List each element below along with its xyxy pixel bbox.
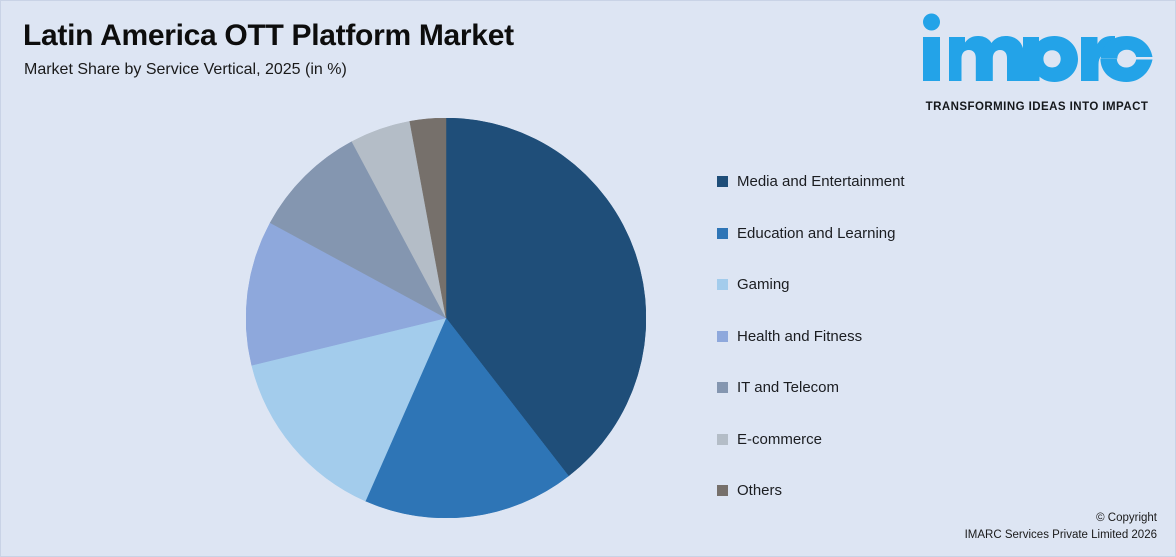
pie-chart — [246, 118, 646, 518]
copyright-footer: © Copyright IMARC Services Private Limit… — [965, 510, 1157, 544]
legend-item-label: E-commerce — [737, 431, 822, 448]
pie-chart-svg — [246, 118, 646, 518]
legend-swatch-icon — [717, 382, 728, 393]
legend-item[interactable]: Gaming — [717, 259, 1047, 311]
legend-item[interactable]: IT and Telecom — [717, 362, 1047, 414]
legend-item[interactable]: E-commerce — [717, 414, 1047, 466]
copyright-line-2: IMARC Services Private Limited 2026 — [965, 527, 1157, 544]
legend-item-label: Education and Learning — [737, 225, 895, 242]
logo-tagline: TRANSFORMING IDEAS INTO IMPACT — [913, 101, 1161, 113]
legend-item-label: Media and Entertainment — [737, 173, 905, 190]
legend-swatch-icon — [717, 434, 728, 445]
legend-item[interactable]: Education and Learning — [717, 208, 1047, 260]
legend-swatch-icon — [717, 228, 728, 239]
legend-item-label: Gaming — [737, 276, 790, 293]
legend-item-label: Health and Fitness — [737, 328, 862, 345]
legend-swatch-icon — [717, 485, 728, 496]
pie-slice-group — [246, 118, 646, 518]
imarc-logo: TRANSFORMING IDEAS INTO IMPACT — [913, 11, 1161, 107]
legend-item-label: Others — [737, 482, 782, 499]
imarc-wordmark-icon — [913, 13, 1161, 83]
legend-item[interactable]: Others — [717, 465, 1047, 517]
legend-item[interactable]: Media and Entertainment — [717, 156, 1047, 208]
legend-item[interactable]: Health and Fitness — [717, 311, 1047, 363]
legend-swatch-icon — [717, 279, 728, 290]
chart-subtitle: Market Share by Service Vertical, 2025 (… — [24, 61, 347, 79]
legend-swatch-icon — [717, 176, 728, 187]
page-title: Latin America OTT Platform Market — [23, 19, 514, 53]
copyright-line-1: © Copyright — [965, 510, 1157, 527]
chart-page: Latin America OTT Platform Market Market… — [0, 0, 1176, 557]
legend-item-label: IT and Telecom — [737, 379, 839, 396]
chart-legend: Media and Entertainment Education and Le… — [717, 156, 1047, 517]
legend-swatch-icon — [717, 331, 728, 342]
